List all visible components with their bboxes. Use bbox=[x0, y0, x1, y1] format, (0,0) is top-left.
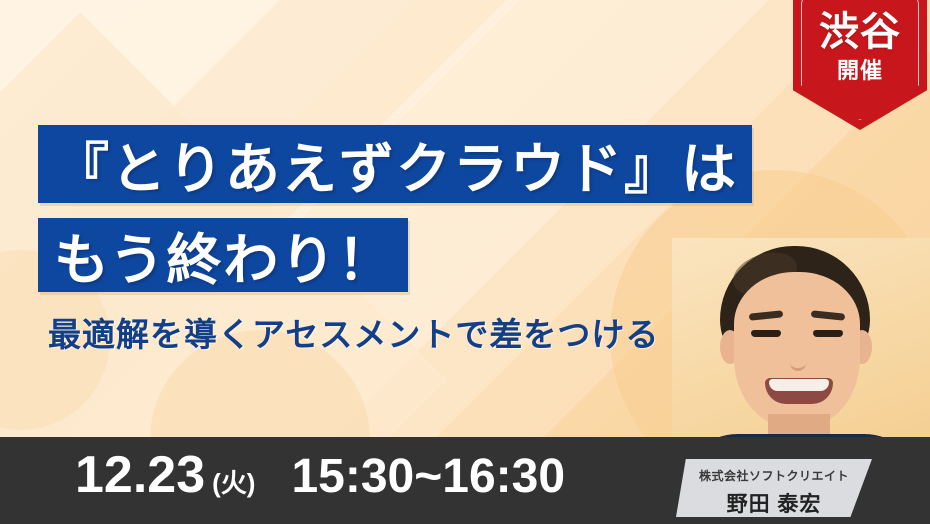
portrait-mouth bbox=[765, 378, 833, 404]
schedule-group: 12.23 (火) 15:30~16:30 bbox=[75, 445, 565, 505]
portrait-eye-right bbox=[813, 330, 843, 337]
event-date: 12.23 bbox=[75, 445, 205, 505]
event-time: 15:30~16:30 bbox=[291, 449, 565, 504]
title-line-2-text: もう終わり！ bbox=[54, 215, 394, 295]
speaker-nameplate: 株式会社ソフトクリエイト 野田 泰宏 bbox=[676, 459, 872, 517]
title-line-2: もう終わり！ bbox=[38, 218, 408, 292]
badge-city-label: 渋谷 bbox=[793, 12, 927, 52]
webinar-banner: 渋谷 開催 『とりあえずクラウド』は もう終わり！ 最適解を導くアセスメントで差… bbox=[0, 0, 930, 524]
portrait-nose bbox=[790, 346, 806, 371]
speaker-company: 株式会社ソフトクリエイト bbox=[676, 467, 872, 484]
title-line-1: 『とりあえずクラウド』は bbox=[38, 125, 752, 203]
portrait-eye-left bbox=[751, 330, 781, 337]
title-line-1-text: 『とりあえずクラウド』は bbox=[54, 124, 738, 204]
portrait-teeth bbox=[769, 379, 829, 391]
badge-sub-label: 開催 bbox=[793, 60, 927, 82]
speaker-name: 野田 泰宏 bbox=[676, 488, 872, 518]
event-day-of-week: (火) bbox=[212, 463, 255, 500]
subtitle: 最適解を導くアセスメントで差をつける bbox=[48, 308, 659, 356]
